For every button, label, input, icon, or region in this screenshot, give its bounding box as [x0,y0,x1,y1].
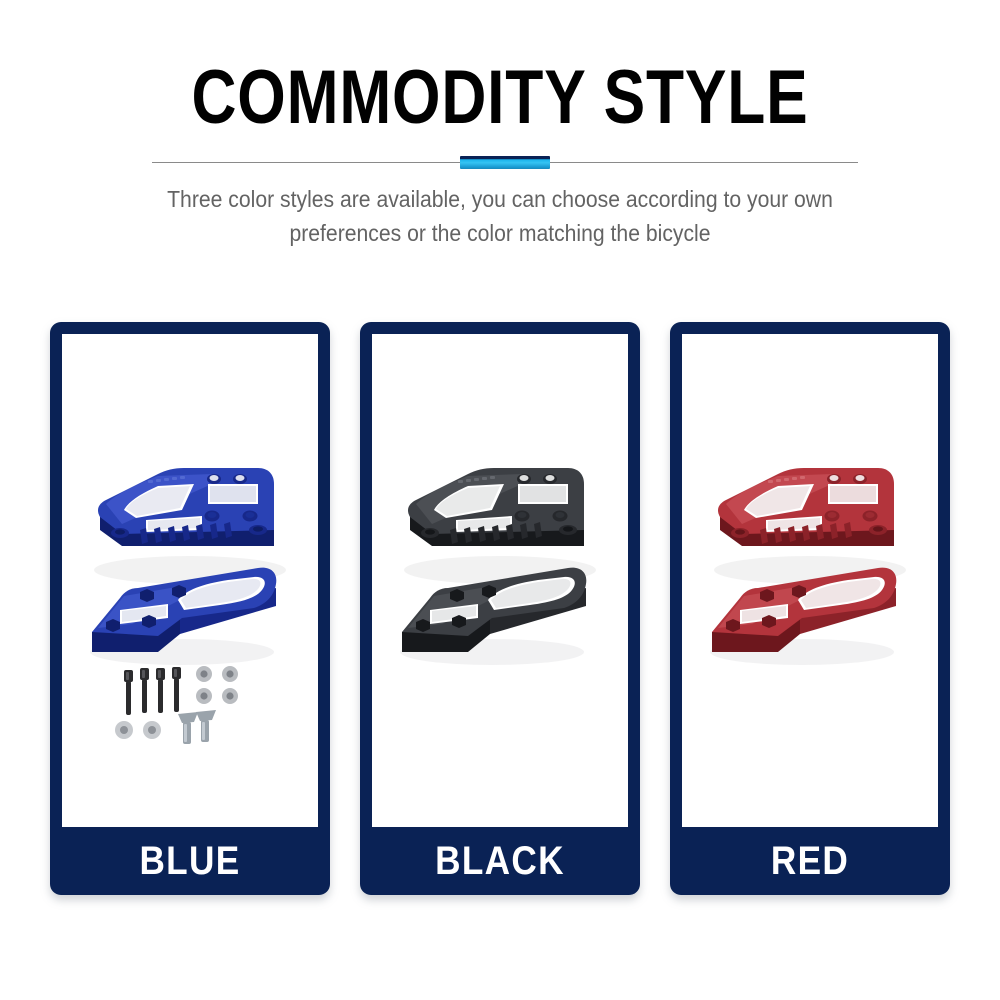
style-card-red[interactable]: RED [670,322,950,895]
style-card-label-black: BLACK [387,827,612,895]
title-divider [152,156,858,170]
upper-guide-plate-red [718,468,894,546]
hardware-set-blue [115,666,238,744]
product-photo-blue [62,334,318,827]
style-card-label-blue: BLUE [77,827,302,895]
product-photo-red [682,334,938,827]
style-cards-row: BLUE [50,322,950,897]
subtitle: Three color styles are available, you ca… [150,182,849,250]
subtitle-line-1: Three color styles are available, you ca… [150,182,849,216]
product-illustration-black [372,334,628,827]
upper-guide-plate-black [408,468,584,546]
divider-accent-bar [460,156,550,169]
style-card-label-red: RED [697,827,922,895]
style-card-black[interactable]: BLACK [360,322,640,895]
product-photo-black [372,334,628,827]
product-illustration-red [682,334,938,827]
upper-guide-plate-blue [98,468,274,546]
style-card-blue[interactable]: BLUE [50,322,330,895]
page-title: COMMODITY STYLE [90,58,910,138]
subtitle-line-2: preferences or the color matching the bi… [150,216,849,250]
product-illustration-blue [62,334,318,827]
header: COMMODITY STYLE Three color styles are a… [0,0,1000,300]
